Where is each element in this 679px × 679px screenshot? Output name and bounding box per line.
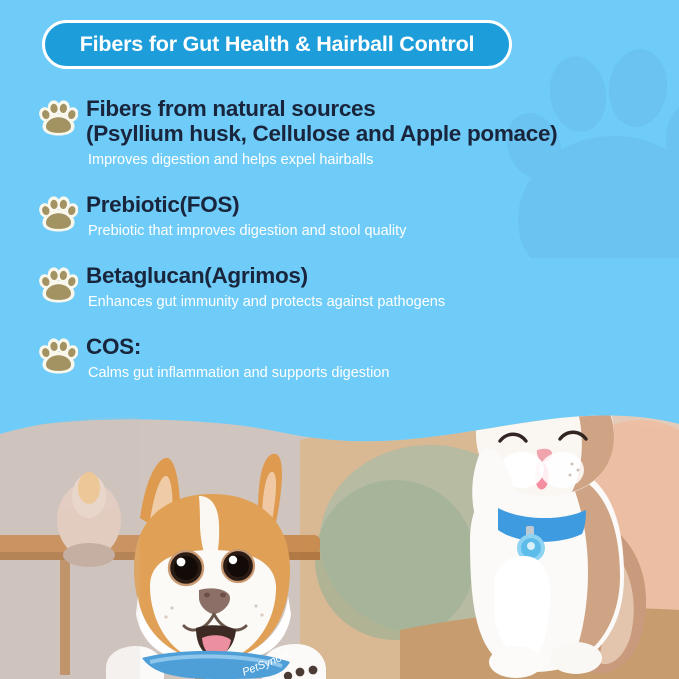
paw-icon	[38, 196, 78, 232]
title-pill: Fibers for Gut Health & Hairball Control	[42, 20, 512, 69]
list-item: Betaglucan(Agrimos) Enhances gut immunit…	[0, 263, 679, 312]
paw-icon	[38, 338, 78, 374]
list-item-text: Betaglucan(Agrimos) Enhances gut immunit…	[86, 263, 445, 312]
benefit-list: Fibers from natural sources (Psyllium hu…	[0, 96, 679, 401]
list-item-text: Fibers from natural sources (Psyllium hu…	[86, 96, 557, 170]
list-item-subtext: Improves digestion and helps expel hairb…	[88, 151, 557, 170]
list-item-heading: Prebiotic(FOS)	[86, 192, 406, 217]
list-item-heading-line1: COS:	[86, 334, 141, 359]
pets-photo: PetSynovo	[0, 400, 679, 679]
pets-photo-image: PetSynovo	[0, 400, 679, 679]
list-item-heading-line1: Betaglucan(Agrimos)	[86, 263, 308, 288]
list-item: Fibers from natural sources (Psyllium hu…	[0, 96, 679, 170]
list-item-heading: Fibers from natural sources (Psyllium hu…	[86, 96, 557, 146]
list-item-subtext: Enhances gut immunity and protects again…	[88, 293, 445, 312]
paw-icon	[38, 100, 78, 136]
list-item-heading: COS:	[86, 334, 389, 359]
list-item-heading: Betaglucan(Agrimos)	[86, 263, 445, 288]
list-item: Prebiotic(FOS) Prebiotic that improves d…	[0, 192, 679, 241]
page-title: Fibers for Gut Health & Hairball Control	[80, 32, 475, 57]
list-item-heading-line2: (Psyllium husk, Cellulose and Apple poma…	[86, 121, 557, 146]
paw-icon	[38, 267, 78, 303]
list-item-heading-line1: Prebiotic(FOS)	[86, 192, 239, 217]
list-item-text: Prebiotic(FOS) Prebiotic that improves d…	[86, 192, 406, 241]
list-item-subtext: Prebiotic that improves digestion and st…	[88, 222, 406, 241]
list-item-heading-line1: Fibers from natural sources	[86, 96, 376, 121]
list-item-text: COS: Calms gut inflammation and supports…	[86, 334, 389, 383]
list-item: COS: Calms gut inflammation and supports…	[0, 334, 679, 383]
list-item-subtext: Calms gut inflammation and supports dige…	[88, 364, 389, 383]
product-infographic-poster: Fibers for Gut Health & Hairball Control	[0, 0, 679, 679]
